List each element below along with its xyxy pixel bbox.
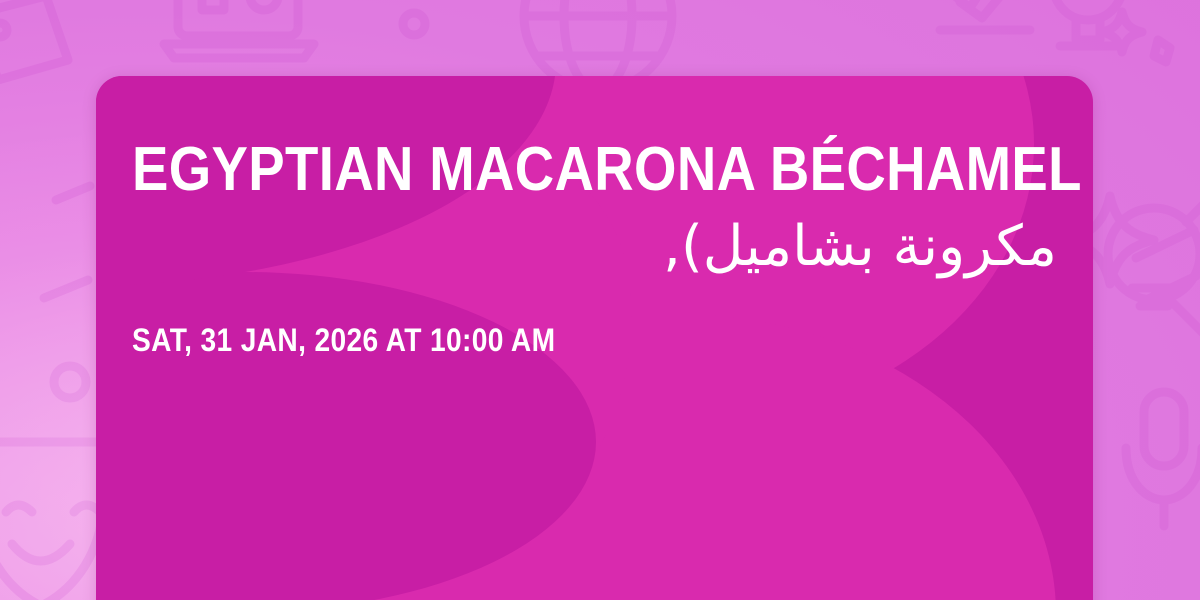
microphone-icon — [1126, 392, 1200, 526]
event-title-english: EGYPTIAN MACARONA BÉCHAMEL — [132, 138, 946, 201]
event-datetime: SAT, 31 JAN, 2026 AT 10:00 AM — [132, 323, 946, 358]
ticket-icon — [44, 280, 88, 298]
ticket-icon — [56, 186, 90, 200]
star-icon — [1154, 40, 1170, 62]
ticket-icon — [1146, 276, 1196, 300]
event-banner: EGYPTIAN MACARONA BÉCHAMEL مكرونة بشاميل… — [0, 0, 1200, 600]
star-icon — [403, 13, 425, 35]
balloon-icon — [1108, 192, 1200, 340]
star-icon — [54, 366, 86, 398]
ticket-icon — [1136, 230, 1194, 258]
event-card: EGYPTIAN MACARONA BÉCHAMEL مكرونة بشاميل… — [96, 76, 1093, 600]
ticket-icon — [0, 0, 68, 80]
trophy-icon — [1030, 0, 1146, 46]
laptop-icon — [164, 0, 314, 58]
sparkle-icon — [1102, 12, 1142, 52]
theater-mask-icon — [0, 442, 104, 600]
event-title-arabic: مكرونة بشاميل), — [132, 211, 1057, 283]
medal-icon — [912, 0, 1030, 30]
card-content: EGYPTIAN MACARONA BÉCHAMEL مكرونة بشاميل… — [132, 138, 1057, 358]
